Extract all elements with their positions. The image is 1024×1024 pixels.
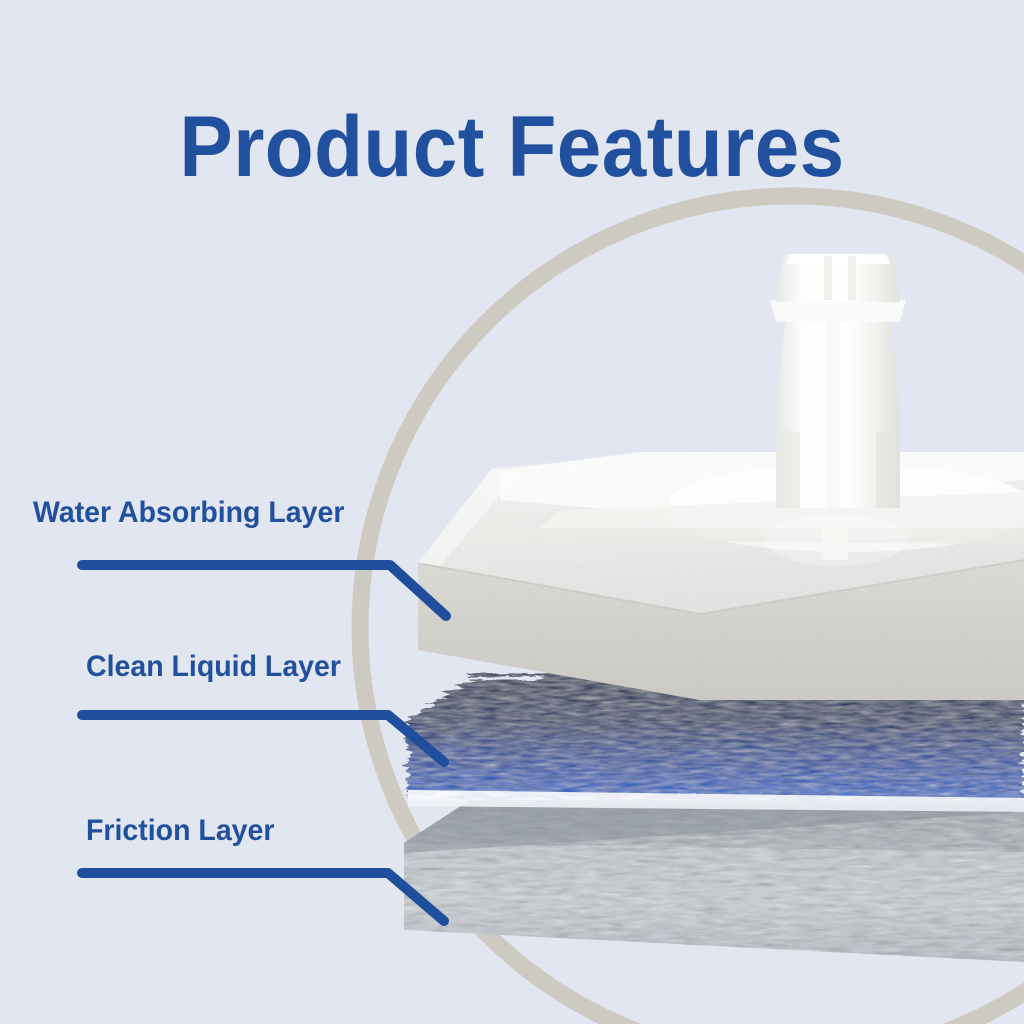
callout-label-water-absorbing-layer: Water Absorbing Layer (33, 498, 344, 528)
callout-label-friction-layer: Friction Layer (86, 816, 274, 846)
leader-line-friction (82, 873, 444, 921)
leader-line-water-absorbing (82, 565, 446, 616)
page-title: Product Features (36, 104, 988, 190)
callout-label-clean-liquid-layer: Clean Liquid Layer (86, 652, 341, 682)
leader-line-clean-liquid (82, 715, 444, 762)
product-features-poster: Product Features Water Absorbing Layer C… (0, 0, 1024, 1024)
